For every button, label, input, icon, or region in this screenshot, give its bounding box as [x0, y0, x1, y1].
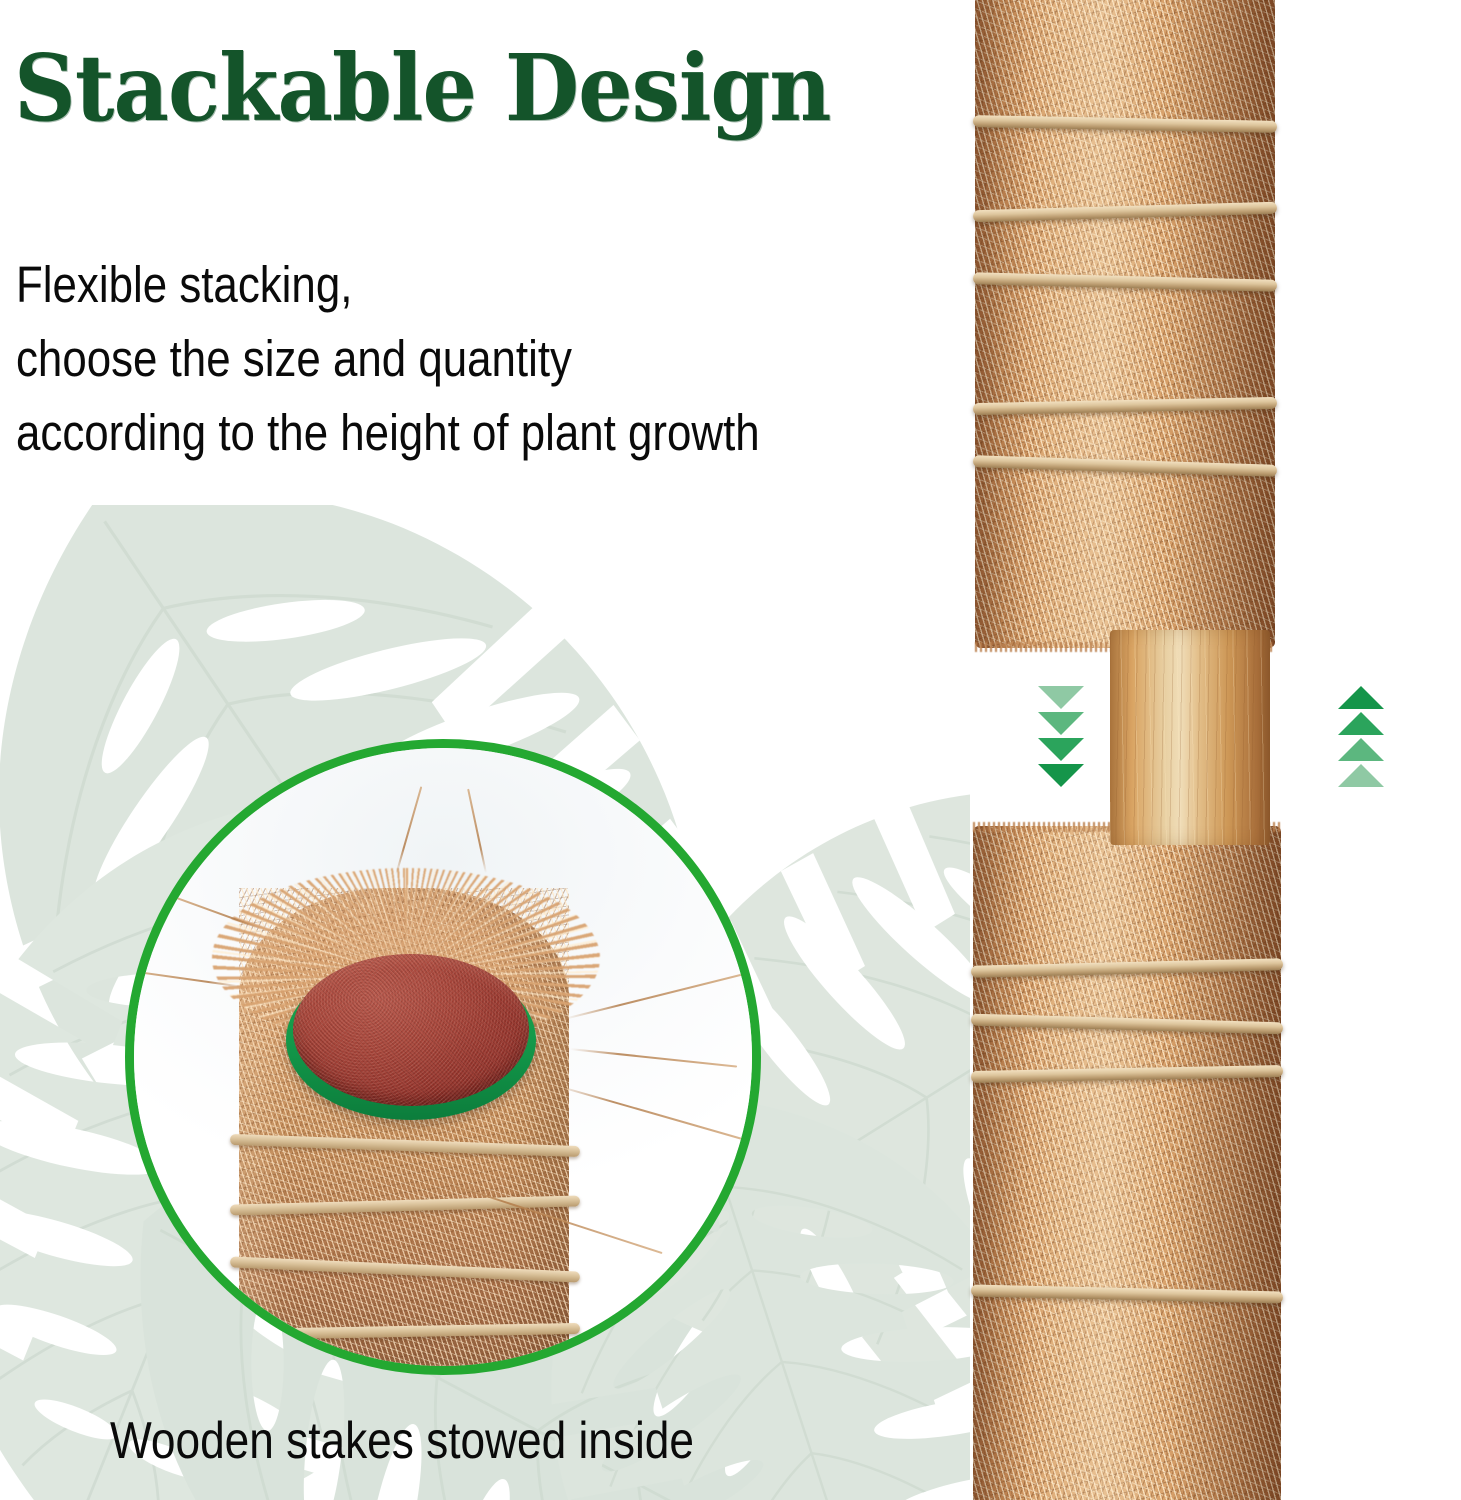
arrow-up-icon — [1338, 712, 1384, 735]
stray-fiber — [467, 789, 487, 874]
marketing-image-canvas: Stackable Design Flexible stacking, choo… — [0, 0, 1461, 1500]
arrow-down-icon — [1038, 764, 1084, 787]
description-line-3: according to the height of plant growth — [16, 396, 842, 470]
stray-fiber — [395, 786, 422, 875]
coir-shading — [975, 0, 1275, 648]
coir-shading — [973, 826, 1281, 1500]
inset-caption: Wooden stakes stowed inside — [110, 1410, 694, 1472]
inset-red-plug-cap — [293, 954, 529, 1106]
separate-up-arrows — [1338, 686, 1384, 790]
inset-photo-backdrop — [134, 748, 752, 1366]
stack-down-arrows — [1038, 686, 1084, 790]
arrow-up-icon — [1338, 738, 1384, 761]
lower-coir-pole-segment — [973, 826, 1281, 1500]
arrow-up-icon — [1338, 764, 1384, 787]
arrow-down-icon — [1038, 738, 1084, 761]
description-text: Flexible stacking, choose the size and q… — [16, 248, 842, 470]
arrow-up-icon — [1338, 686, 1384, 709]
upper-coir-pole-segment — [975, 0, 1275, 648]
arrow-down-icon — [1038, 686, 1084, 709]
page-title: Stackable Design — [14, 42, 870, 134]
stray-fiber — [570, 1048, 737, 1068]
inset-cap-texture — [293, 954, 529, 1106]
description-line-1: Flexible stacking, — [16, 248, 842, 322]
wooden-dowel-stake — [1110, 630, 1270, 845]
detail-inset-circle — [125, 739, 761, 1375]
wood-grain-texture — [1110, 630, 1270, 845]
description-line-2: choose the size and quantity — [16, 322, 842, 396]
arrow-down-icon — [1038, 712, 1084, 735]
stray-fiber — [554, 1084, 752, 1142]
